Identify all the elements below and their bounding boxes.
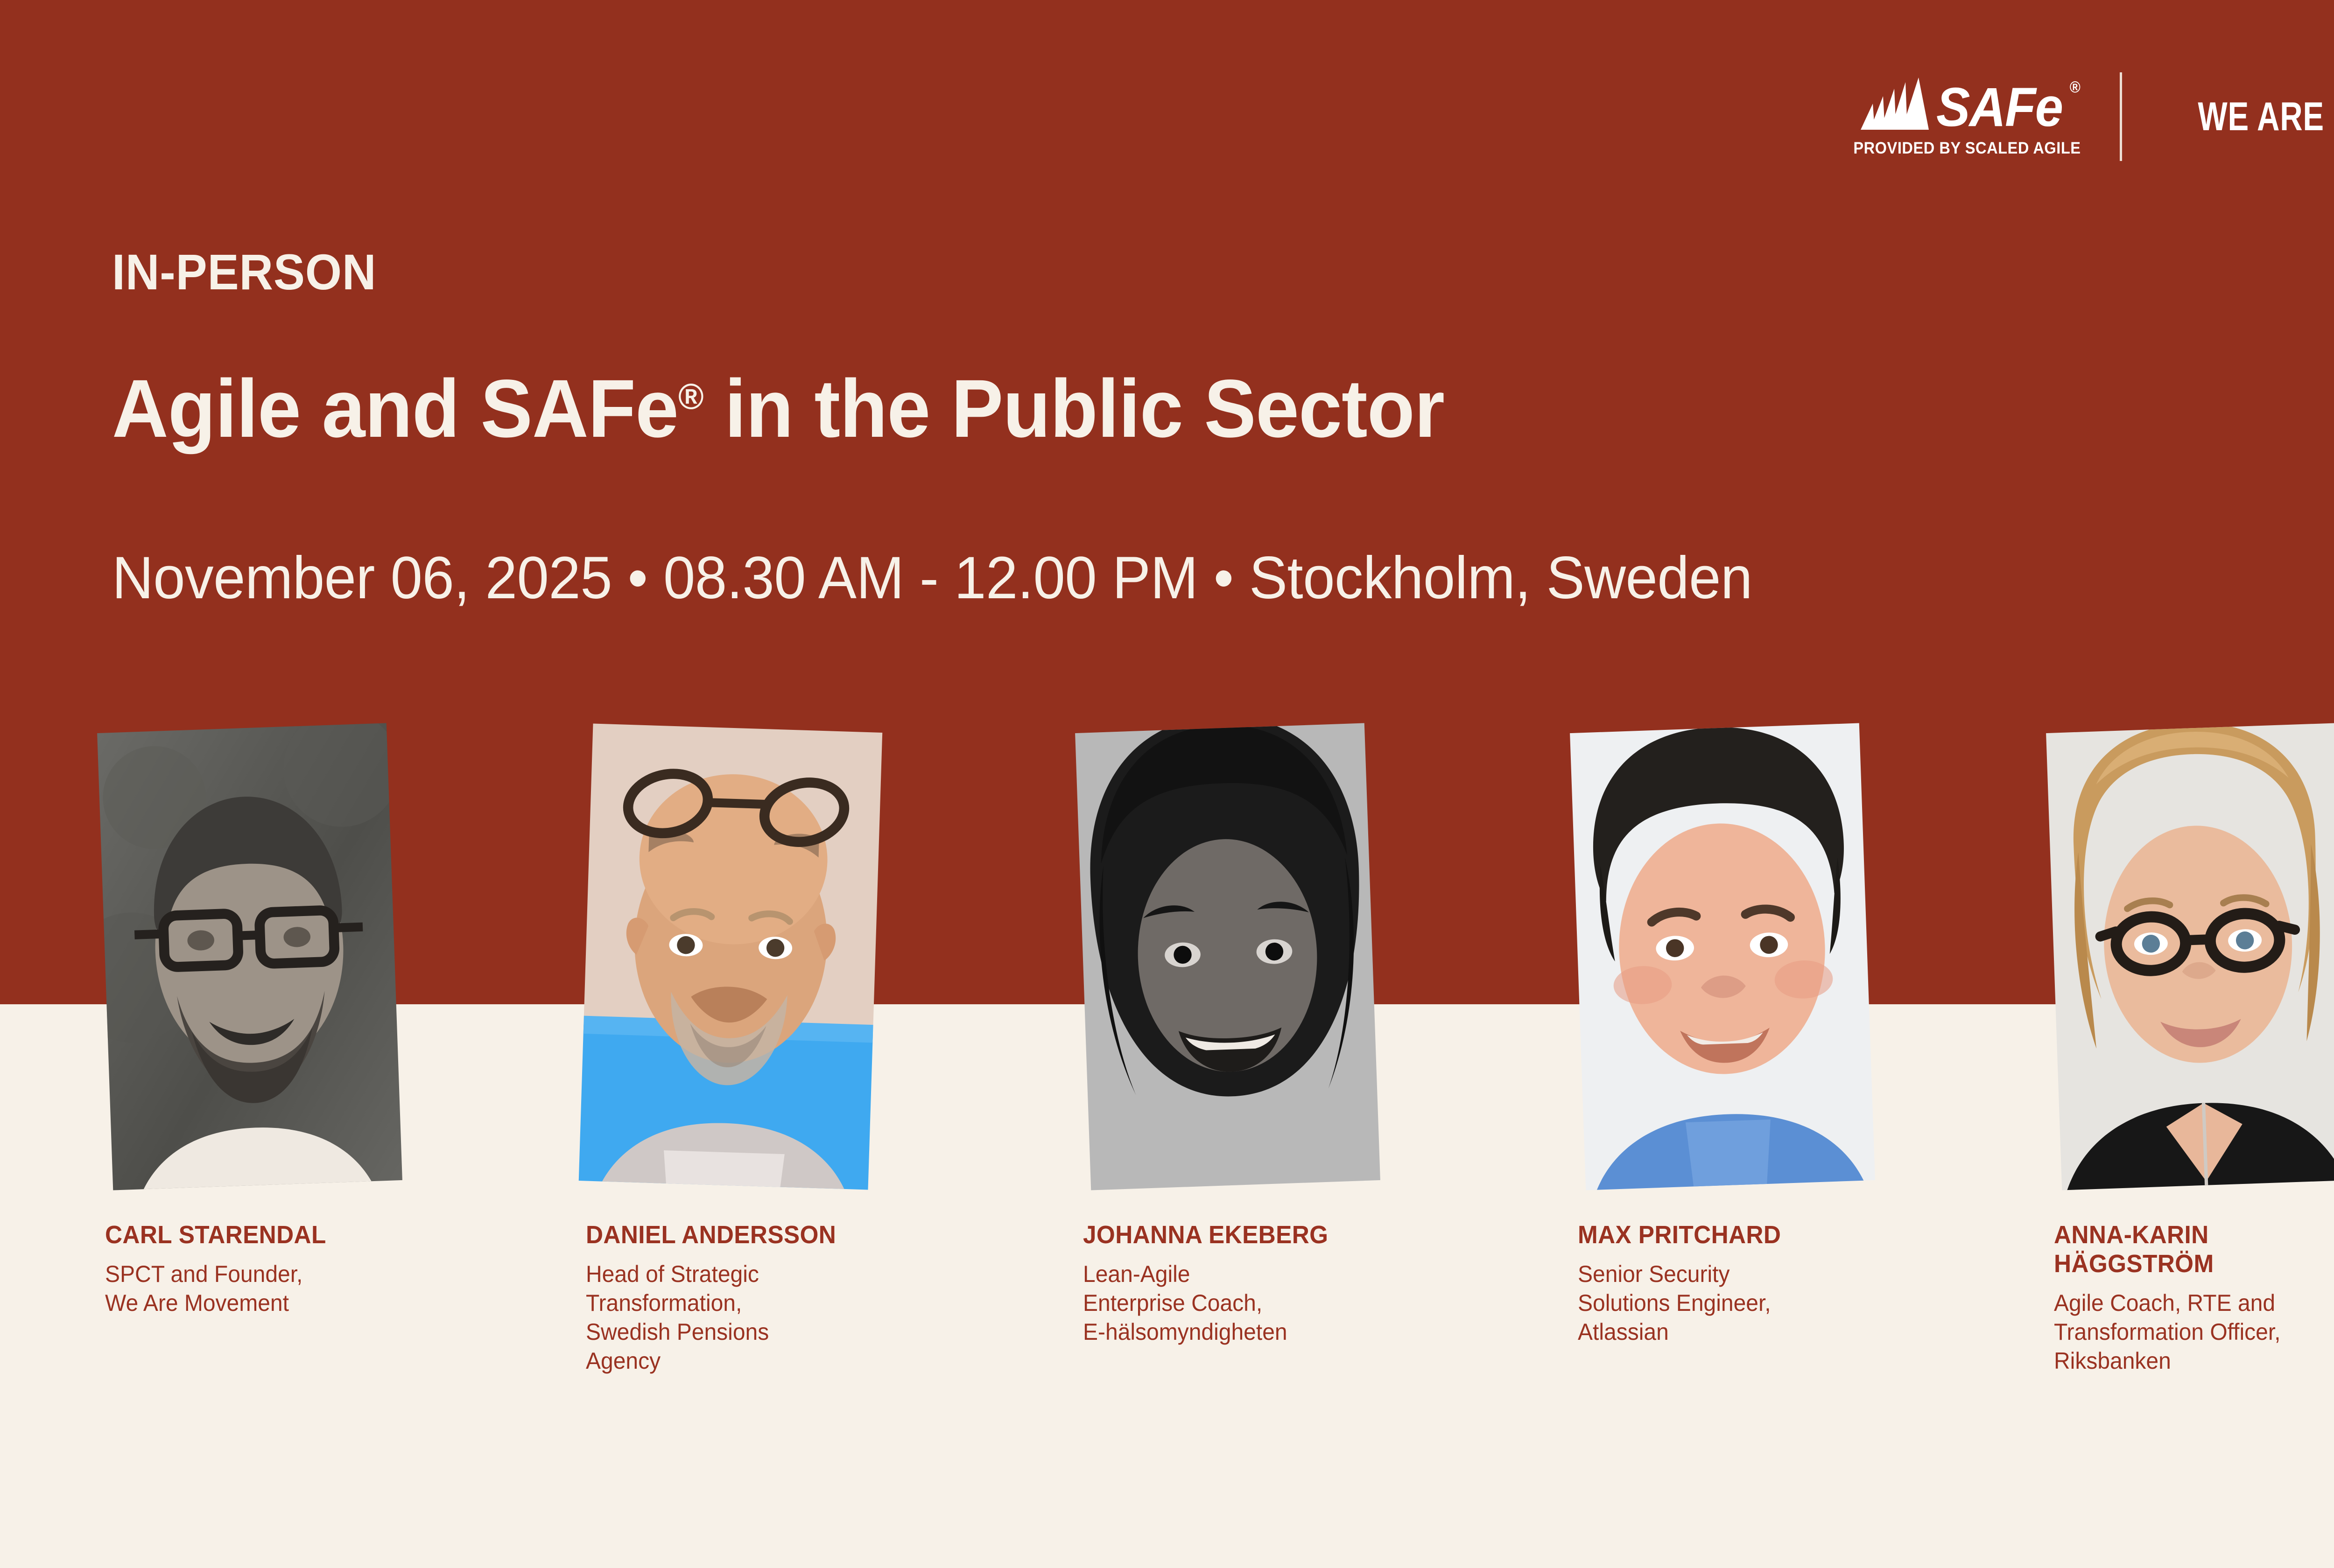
speaker-photo-frame bbox=[1083, 728, 1372, 1185]
portrait-johanna-ekeberg bbox=[1075, 723, 1380, 1190]
logo-divider-1 bbox=[2120, 72, 2122, 161]
safe-wordmark: SAFe® bbox=[1936, 82, 2062, 133]
speaker-card: ANNA-KARIN HÄGGSTRÖM Agile Coach, RTE an… bbox=[2054, 728, 2334, 1185]
we-are-movement-logo: WE ARE MOVEMENT bbox=[2122, 70, 2334, 163]
event-banner: SAFe® PROVIDED BY SCALED AGILE WE ARE MO… bbox=[0, 0, 2334, 1568]
speaker-photo bbox=[579, 724, 882, 1190]
event-format-label: IN-PERSON bbox=[112, 243, 376, 301]
speaker-title: Lean-Agile Enterprise Coach, E-hälsomynd… bbox=[1083, 1260, 1477, 1346]
speaker-card: MAX PRITCHARD Senior Security Solutions … bbox=[1578, 728, 2045, 1185]
portrait-daniel-andersson bbox=[579, 724, 882, 1190]
portrait-max-pritchard bbox=[1570, 723, 1875, 1190]
speaker-photo bbox=[97, 723, 402, 1190]
speaker-list: CARL STARENDAL SPCT and Founder, We Are … bbox=[0, 728, 2334, 1521]
page-title-rest: in the Public Sector bbox=[703, 363, 1444, 455]
page-title-registered-mark: ® bbox=[678, 376, 703, 417]
speaker-photo-frame bbox=[105, 728, 394, 1185]
speaker-meta: ANNA-KARIN HÄGGSTRÖM Agile Coach, RTE an… bbox=[2054, 1220, 2334, 1375]
speaker-name: ANNA-KARIN HÄGGSTRÖM bbox=[2054, 1220, 2334, 1278]
speaker-meta: DANIEL ANDERSSON Head of Strategic Trans… bbox=[586, 1220, 997, 1375]
speaker-name: MAX PRITCHARD bbox=[1578, 1220, 1968, 1249]
speaker-title: Head of Strategic Transformation, Swedis… bbox=[586, 1260, 980, 1375]
we-are-movement-wordmark: WE ARE MOVEMENT bbox=[2198, 94, 2334, 140]
speaker-title: Senior Security Solutions Engineer, Atla… bbox=[1578, 1260, 1972, 1346]
safe-registered-mark: ® bbox=[2069, 79, 2079, 95]
speaker-meta: MAX PRITCHARD Senior Security Solutions … bbox=[1578, 1220, 1989, 1346]
page-title-main: Agile and SAFe bbox=[112, 363, 678, 455]
speaker-title: SPCT and Founder, We Are Movement bbox=[105, 1260, 499, 1317]
speaker-photo-frame bbox=[586, 728, 875, 1185]
speaker-photo-frame bbox=[1578, 728, 1867, 1185]
speaker-card: JOHANNA EKEBERG Lean-Agile Enterprise Co… bbox=[1083, 728, 1550, 1185]
speaker-photo-frame bbox=[2054, 728, 2334, 1185]
safe-logo: SAFe® PROVIDED BY SCALED AGILE bbox=[1814, 70, 2120, 163]
speaker-photo bbox=[2046, 723, 2334, 1190]
speaker-name: DANIEL ANDERSSON bbox=[586, 1220, 976, 1249]
speaker-photo bbox=[1570, 723, 1875, 1190]
speaker-title: Agile Coach, RTE and Transformation Offi… bbox=[2054, 1288, 2334, 1375]
speaker-card: CARL STARENDAL SPCT and Founder, We Are … bbox=[105, 728, 572, 1185]
safe-tagline: PROVIDED BY SCALED AGILE bbox=[1853, 139, 2081, 158]
speaker-card: DANIEL ANDERSSON Head of Strategic Trans… bbox=[586, 728, 1053, 1185]
speaker-meta: CARL STARENDAL SPCT and Founder, We Are … bbox=[105, 1220, 516, 1317]
speaker-meta: JOHANNA EKEBERG Lean-Agile Enterprise Co… bbox=[1083, 1220, 1494, 1346]
partner-logo-bar: SAFe® PROVIDED BY SCALED AGILE WE ARE MO… bbox=[1814, 70, 2334, 163]
safe-wordmark-text: SAFe bbox=[1936, 77, 2062, 138]
speaker-name: JOHANNA EKEBERG bbox=[1083, 1220, 1473, 1249]
portrait-carl-starendal bbox=[97, 723, 402, 1190]
speaker-name: CARL STARENDAL bbox=[105, 1220, 495, 1249]
safe-mountain-icon bbox=[1861, 77, 1944, 133]
page-title: Agile and SAFe® in the Public Sector bbox=[112, 362, 1444, 456]
speaker-photo bbox=[1075, 723, 1380, 1190]
portrait-anna-karin-haggstrom bbox=[2046, 723, 2334, 1190]
event-details: November 06, 2025 • 08.30 AM - 12.00 PM … bbox=[112, 544, 1752, 612]
